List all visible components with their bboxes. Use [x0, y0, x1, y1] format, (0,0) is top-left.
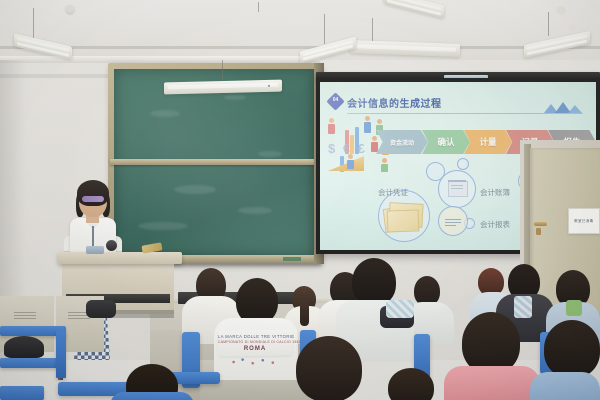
slide-title: 会计信息的生成过程	[347, 95, 442, 110]
chair-back	[56, 330, 66, 378]
lamp-wire	[258, 2, 259, 12]
student-chair	[0, 386, 44, 400]
tshirt-line-1: LA MARCA DOLLE TRE VITTORIE	[218, 334, 292, 339]
tshirt-line-2: CAMPIONATO DI MONDIALE DI CALCIO 1982	[218, 340, 292, 344]
classroom-photo: 04 会计信息的生成过程	[0, 0, 600, 400]
lamp-wire	[33, 8, 34, 40]
student-desk	[0, 358, 58, 368]
bubble-voucher-image	[438, 170, 476, 208]
student-head	[462, 312, 520, 374]
currency-symbols: $ € £	[328, 141, 367, 156]
slide-label-ledger: 会计账簿	[480, 187, 510, 198]
process-step-2: 计量	[464, 130, 512, 154]
student-torso	[110, 392, 194, 400]
bubble-report-image	[438, 206, 468, 236]
ramp-graphic	[328, 156, 364, 171]
door-handle[interactable]	[534, 222, 547, 226]
slide-label-voucher: 会计凭证	[378, 187, 408, 198]
door-sign-text: 教室已消毒	[574, 218, 593, 223]
ceiling-sensor-icon	[66, 5, 74, 13]
tshirt-line-3: ROMA	[218, 346, 292, 352]
blackboard-divider-rail	[110, 159, 318, 165]
slide-label-report: 会计报表	[480, 219, 510, 230]
door-sign: 教室已消毒	[568, 208, 600, 234]
student-ponytail	[300, 300, 309, 326]
green-item	[566, 300, 582, 316]
slide-badge-number: 04	[329, 97, 342, 103]
student-head	[544, 320, 600, 378]
backpack	[4, 336, 44, 358]
chalk-eraser	[283, 257, 301, 261]
tshirt-graphic	[228, 356, 284, 368]
student-torso	[444, 366, 540, 400]
teacher-glasses-icon	[82, 196, 104, 202]
wall-molding	[0, 56, 320, 63]
patterned-bag	[386, 300, 414, 318]
backpack	[86, 300, 116, 318]
teacher-hair	[77, 180, 109, 206]
lamp-wire	[324, 14, 325, 44]
student-head	[388, 368, 434, 400]
ceiling-seam	[0, 46, 600, 49]
microphone-base[interactable]	[86, 246, 104, 254]
ceiling-sensor-icon	[556, 6, 566, 15]
ceiling-sensor-icon	[568, 24, 576, 32]
lectern-desktop	[58, 252, 182, 264]
lamp-wire	[222, 60, 223, 82]
student-head	[352, 258, 396, 306]
student-head	[296, 336, 362, 400]
student-torso	[530, 372, 600, 400]
mountain-decoration-icon	[544, 102, 584, 113]
patterned-bag	[514, 296, 532, 318]
door-lock-icon[interactable]	[536, 228, 541, 235]
process-step-label: 确认	[437, 136, 454, 148]
process-step-label: 资金流动	[390, 138, 414, 147]
process-step-1: 确认	[422, 130, 470, 154]
lamp-wire	[548, 12, 549, 36]
process-step-label: 计量	[479, 136, 496, 148]
process-step-0: 资金流动	[376, 130, 428, 154]
microphone-head-icon[interactable]	[106, 240, 117, 251]
decor-bubble	[457, 158, 469, 170]
